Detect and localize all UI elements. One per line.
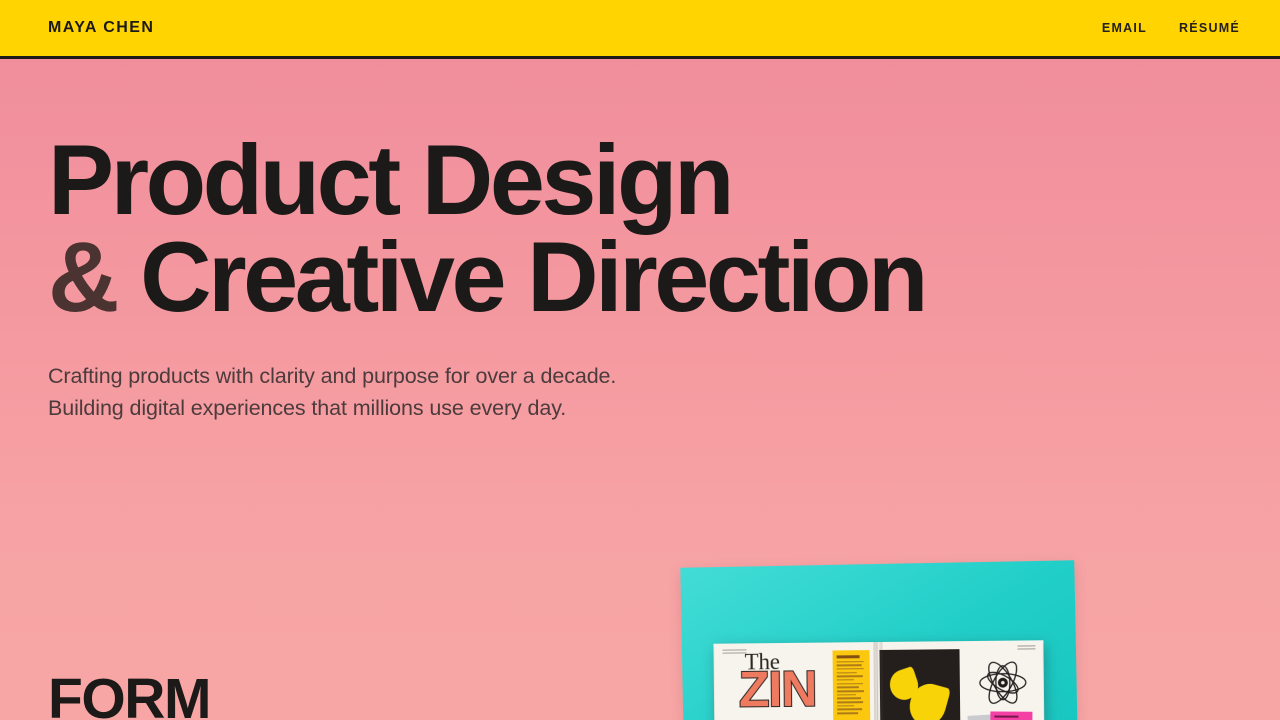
nav-link-resume[interactable]: RÉSUMÉ [1179, 22, 1240, 35]
hero-title-line-2: & Creative Direction [48, 228, 1232, 325]
hero-title-line-1: Product Design [48, 131, 1232, 228]
hero-section: Product Design & Creative Direction Craf… [0, 59, 1280, 425]
hero-ampersand: & [48, 221, 116, 332]
magazine-zin-title: ZIN [739, 669, 817, 710]
hero-title-line-2-text: Creative Direction [140, 221, 925, 332]
site-header: MAYA CHEN EMAIL RÉSUMÉ [0, 0, 1280, 59]
nav-link-email[interactable]: EMAIL [1102, 22, 1147, 35]
magazine-black-plate [880, 649, 961, 720]
magazine-kicker-lines [722, 649, 746, 655]
pink-sticky-note [990, 711, 1032, 720]
hero-subtitle: Crafting products with clarity and purpo… [48, 361, 1232, 425]
magazine-page-edge-left [713, 647, 715, 720]
magazine-gutter-shadow [873, 642, 883, 720]
brand-logo[interactable]: MAYA CHEN [48, 20, 154, 36]
hero-subtitle-line-1: Crafting products with clarity and purpo… [48, 361, 1232, 393]
section-heading-form: FORM [48, 671, 210, 720]
artwork-magazine-spread: The ZIN [660, 548, 1100, 720]
page-title: Product Design & Creative Direction [48, 131, 1232, 325]
magazine-right-page [877, 640, 1044, 720]
magazine-folio-marks [1017, 645, 1035, 649]
open-magazine: The ZIN [713, 640, 1044, 720]
portfolio-page: MAYA CHEN EMAIL RÉSUMÉ Product Design & … [0, 0, 1280, 720]
primary-nav: EMAIL RÉSUMÉ [1102, 22, 1240, 35]
magazine-left-page: The ZIN [713, 642, 878, 720]
atom-diagram-icon [977, 656, 1030, 709]
hero-subtitle-line-2: Building digital experiences that millio… [48, 393, 1232, 425]
magazine-yellow-sidebar [833, 650, 871, 720]
